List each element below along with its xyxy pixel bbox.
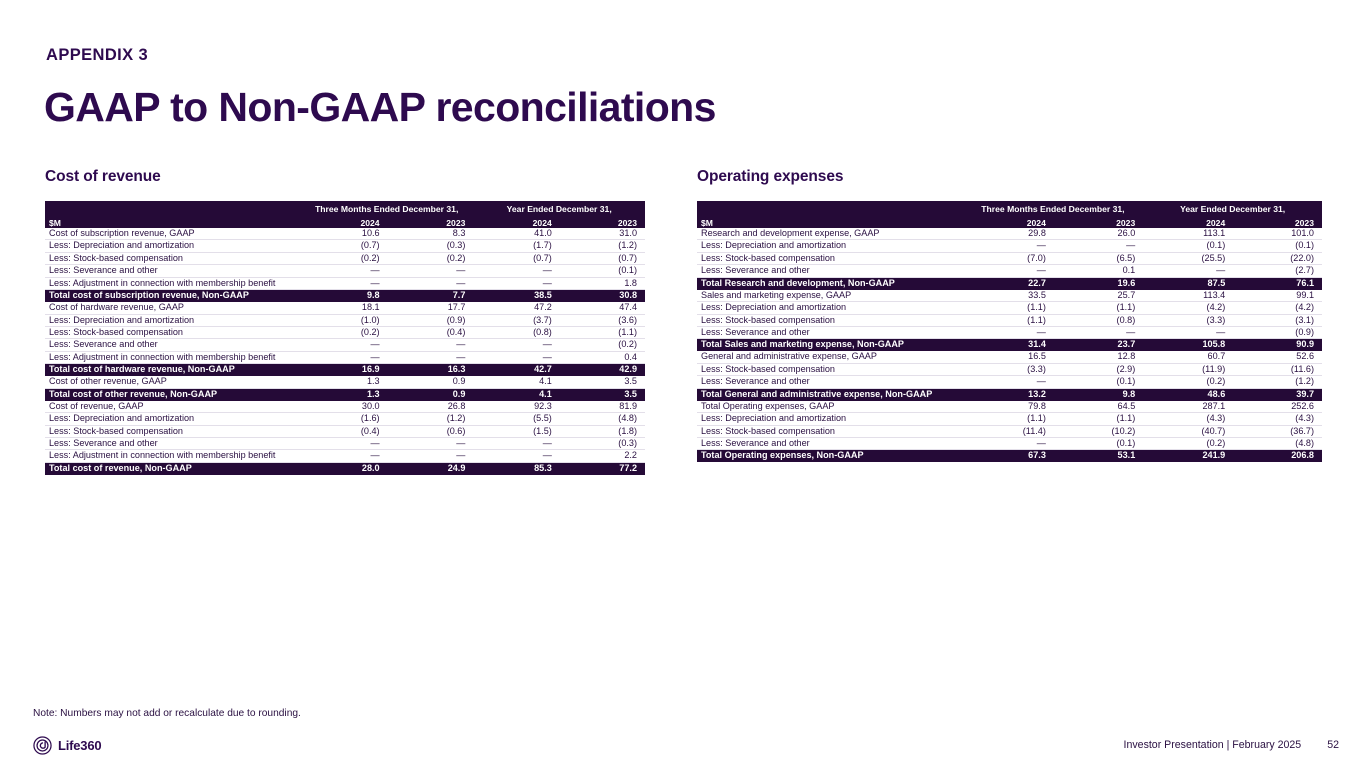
col-header-q4-2023: 2023	[1054, 214, 1143, 228]
row-value-4: (1.2)	[560, 240, 645, 252]
row-value-1: 10.6	[300, 228, 388, 240]
row-value-1: 18.1	[300, 302, 388, 314]
row-value-4: 42.9	[560, 364, 645, 377]
row-value-2: (0.9)	[388, 314, 474, 326]
row-value-4: 39.7	[1233, 388, 1322, 401]
row-label: Less: Severance and other	[45, 339, 300, 351]
table-row: Less: Adjustment in connection with memb…	[45, 450, 645, 462]
row-label: Cost of hardware revenue, GAAP	[45, 302, 300, 314]
table-group-header-row: Three Months Ended December 31, Year End…	[697, 201, 1322, 214]
presentation-label: Investor Presentation | February 2025	[1124, 739, 1302, 751]
row-value-3: (11.9)	[1143, 363, 1233, 375]
row-value-2: 0.9	[388, 376, 474, 388]
row-label: Research and development expense, GAAP	[697, 228, 963, 240]
row-value-2: (1.1)	[1054, 413, 1143, 425]
row-value-4: 99.1	[1233, 290, 1322, 302]
row-value-3: —	[473, 437, 559, 449]
section-heading-operating-expenses: Operating expenses	[697, 168, 1322, 186]
row-value-4: (0.1)	[560, 265, 645, 277]
row-value-1: (0.2)	[300, 252, 388, 264]
row-value-4: (4.3)	[1233, 413, 1322, 425]
table-row: Cost of other revenue, GAAP1.30.94.13.5	[45, 376, 645, 388]
table-row-total: Total cost of revenue, Non-GAAP28.024.98…	[45, 462, 645, 475]
table-body-operating-expenses: Research and development expense, GAAP29…	[697, 228, 1322, 462]
row-value-1: (1.1)	[963, 413, 1054, 425]
row-value-3: (0.1)	[1143, 240, 1233, 252]
row-value-3: 60.7	[1143, 351, 1233, 363]
row-value-4: (0.3)	[560, 437, 645, 449]
row-value-4: (1.2)	[1233, 376, 1322, 388]
table-cost-of-revenue: Three Months Ended December 31, Year End…	[45, 201, 645, 475]
row-value-1: (1.6)	[300, 413, 388, 425]
row-value-4: 3.5	[560, 388, 645, 401]
table-row: Less: Depreciation and amortization(1.1)…	[697, 413, 1322, 425]
row-value-2: (1.1)	[1054, 302, 1143, 314]
row-label: Less: Severance and other	[45, 265, 300, 277]
row-value-3: —	[1143, 326, 1233, 338]
row-label: Total cost of hardware revenue, Non-GAAP	[45, 364, 300, 377]
rounding-note: Note: Numbers may not add or recalculate…	[33, 708, 301, 719]
slide-root: APPENDIX 3 GAAP to Non-GAAP reconciliati…	[0, 0, 1365, 768]
row-value-3: 105.8	[1143, 339, 1233, 352]
row-value-3: 47.2	[473, 302, 559, 314]
row-value-2: —	[1054, 326, 1143, 338]
row-label: Total Operating expenses, GAAP	[697, 401, 963, 413]
page-title: GAAP to Non-GAAP reconciliations	[44, 84, 716, 131]
row-value-2: (2.9)	[1054, 363, 1143, 375]
row-value-1: —	[300, 437, 388, 449]
row-label: Less: Severance and other	[45, 437, 300, 449]
row-value-1: 22.7	[963, 277, 1054, 290]
row-value-2: 25.7	[1054, 290, 1143, 302]
row-value-4: 2.2	[560, 450, 645, 462]
row-label: Less: Depreciation and amortization	[45, 314, 300, 326]
row-label: Less: Depreciation and amortization	[697, 413, 963, 425]
row-value-1: 79.8	[963, 401, 1054, 413]
footer-meta: Investor Presentation | February 2025 52	[1124, 739, 1339, 751]
row-value-3: 4.1	[473, 376, 559, 388]
row-value-3: (1.5)	[473, 425, 559, 437]
row-value-3: —	[473, 277, 559, 289]
panel-operating-expenses: Operating expenses Three Months Ended De…	[697, 168, 1322, 462]
table-row: Cost of subscription revenue, GAAP10.68.…	[45, 228, 645, 240]
row-value-3: —	[473, 339, 559, 351]
row-value-3: (3.3)	[1143, 314, 1233, 326]
row-value-4: (1.8)	[560, 425, 645, 437]
appendix-eyebrow: APPENDIX 3	[46, 46, 148, 65]
row-value-2: (0.1)	[1054, 437, 1143, 449]
row-value-1: 9.8	[300, 290, 388, 303]
row-value-3: (0.7)	[473, 252, 559, 264]
row-value-1: 30.0	[300, 401, 388, 413]
row-value-3: —	[473, 450, 559, 462]
row-value-4: (1.1)	[560, 326, 645, 338]
group-header-year-ended: Year Ended December 31,	[1143, 201, 1322, 214]
row-value-3: 92.3	[473, 401, 559, 413]
row-value-3: 113.1	[1143, 228, 1233, 240]
row-label: Total Research and development, Non-GAAP	[697, 277, 963, 290]
table-row: Less: Depreciation and amortization——(0.…	[697, 240, 1322, 252]
table-row-total: Total Operating expenses, Non-GAAP67.353…	[697, 450, 1322, 463]
row-value-3: (0.2)	[1143, 376, 1233, 388]
table-row-total: Total cost of other revenue, Non-GAAP1.3…	[45, 388, 645, 401]
row-value-3: (25.5)	[1143, 252, 1233, 264]
unit-label: $M	[697, 214, 963, 228]
table-row: Less: Stock-based compensation(3.3)(2.9)…	[697, 363, 1322, 375]
table-row: Less: Adjustment in connection with memb…	[45, 277, 645, 289]
row-label: Less: Severance and other	[697, 437, 963, 449]
life360-target-icon-svg	[33, 736, 52, 755]
table-row-total: Total Sales and marketing expense, Non-G…	[697, 339, 1322, 352]
row-value-3: 241.9	[1143, 450, 1233, 463]
table-head: Three Months Ended December 31, Year End…	[45, 201, 645, 228]
row-value-2: (0.8)	[1054, 314, 1143, 326]
row-value-3: (40.7)	[1143, 425, 1233, 437]
row-label: Total Operating expenses, Non-GAAP	[697, 450, 963, 463]
row-value-2: (0.6)	[388, 425, 474, 437]
table-body-cost-of-revenue: Cost of subscription revenue, GAAP10.68.…	[45, 228, 645, 475]
row-value-4: (4.8)	[1233, 437, 1322, 449]
row-value-2: 17.7	[388, 302, 474, 314]
table-row: Less: Severance and other—0.1—(2.7)	[697, 265, 1322, 277]
table-row: Less: Severance and other———(0.9)	[697, 326, 1322, 338]
row-value-2: 0.9	[388, 388, 474, 401]
table-row: Less: Severance and other—(0.1)(0.2)(4.8…	[697, 437, 1322, 449]
row-value-1: 13.2	[963, 388, 1054, 401]
table-row: Less: Stock-based compensation(0.2)(0.2)…	[45, 252, 645, 264]
row-value-4: 76.1	[1233, 277, 1322, 290]
table-row: Less: Depreciation and amortization(1.6)…	[45, 413, 645, 425]
header-spacer	[45, 201, 300, 214]
row-value-4: (4.8)	[560, 413, 645, 425]
row-label: Total cost of subscription revenue, Non-…	[45, 290, 300, 303]
row-value-2: 23.7	[1054, 339, 1143, 352]
row-value-3: 38.5	[473, 290, 559, 303]
row-label: Less: Stock-based compensation	[697, 363, 963, 375]
table-row: Less: Severance and other—(0.1)(0.2)(1.2…	[697, 376, 1322, 388]
table-row: Less: Stock-based compensation(0.2)(0.4)…	[45, 326, 645, 338]
row-value-4: 52.6	[1233, 351, 1322, 363]
row-value-1: 1.3	[300, 388, 388, 401]
row-value-3: (4.2)	[1143, 302, 1233, 314]
row-label: Cost of subscription revenue, GAAP	[45, 228, 300, 240]
row-label: Cost of revenue, GAAP	[45, 401, 300, 413]
table-row: Less: Stock-based compensation(0.4)(0.6)…	[45, 425, 645, 437]
table-column-header-row: $M 2024 2023 2024 2023	[697, 214, 1322, 228]
table-row: Research and development expense, GAAP29…	[697, 228, 1322, 240]
row-value-3: —	[473, 265, 559, 277]
row-value-2: 16.3	[388, 364, 474, 377]
unit-label: $M	[45, 214, 300, 228]
row-value-1: 16.5	[963, 351, 1054, 363]
row-value-1: —	[300, 265, 388, 277]
table-row: Sales and marketing expense, GAAP33.525.…	[697, 290, 1322, 302]
row-value-2: —	[388, 450, 474, 462]
row-value-1: (7.0)	[963, 252, 1054, 264]
table-row: Cost of revenue, GAAP30.026.892.381.9	[45, 401, 645, 413]
row-value-2: (0.3)	[388, 240, 474, 252]
row-label: Less: Depreciation and amortization	[697, 302, 963, 314]
group-header-year-ended: Year Ended December 31,	[473, 201, 645, 214]
table-row: Less: Depreciation and amortization(1.0)…	[45, 314, 645, 326]
logo-wordmark: Life360	[58, 738, 101, 753]
row-label: Less: Severance and other	[697, 376, 963, 388]
row-value-4: 252.6	[1233, 401, 1322, 413]
row-label: Less: Adjustment in connection with memb…	[45, 277, 300, 289]
row-value-3: 113.4	[1143, 290, 1233, 302]
row-value-1: 16.9	[300, 364, 388, 377]
brand-logo: Life360	[33, 736, 101, 755]
life360-target-icon	[33, 736, 52, 755]
row-label: Sales and marketing expense, GAAP	[697, 290, 963, 302]
row-value-3: 87.5	[1143, 277, 1233, 290]
table-head: Three Months Ended December 31, Year End…	[697, 201, 1322, 228]
row-value-4: (11.6)	[1233, 363, 1322, 375]
row-value-4: 3.5	[560, 376, 645, 388]
table-row-total: Total cost of hardware revenue, Non-GAAP…	[45, 364, 645, 377]
row-value-2: (1.2)	[388, 413, 474, 425]
row-value-1: 29.8	[963, 228, 1054, 240]
row-label: Less: Stock-based compensation	[697, 252, 963, 264]
row-value-4: 77.2	[560, 462, 645, 475]
row-value-1: —	[963, 326, 1054, 338]
row-value-3: (1.7)	[473, 240, 559, 252]
table-row: Less: Depreciation and amortization(1.1)…	[697, 302, 1322, 314]
row-value-1: 33.5	[963, 290, 1054, 302]
row-value-2: (0.2)	[388, 252, 474, 264]
row-value-1: (0.7)	[300, 240, 388, 252]
row-value-2: —	[388, 351, 474, 363]
row-value-1: (0.4)	[300, 425, 388, 437]
row-label: Less: Depreciation and amortization	[45, 413, 300, 425]
row-value-4: 30.8	[560, 290, 645, 303]
row-value-4: (0.2)	[560, 339, 645, 351]
row-value-4: (2.7)	[1233, 265, 1322, 277]
table-row: Less: Stock-based compensation(1.1)(0.8)…	[697, 314, 1322, 326]
table-row: Less: Stock-based compensation(11.4)(10.…	[697, 425, 1322, 437]
row-value-1: —	[963, 376, 1054, 388]
row-label: Less: Stock-based compensation	[45, 326, 300, 338]
row-value-2: 53.1	[1054, 450, 1143, 463]
table-column-header-row: $M 2024 2023 2024 2023	[45, 214, 645, 228]
row-label: Less: Adjustment in connection with memb…	[45, 450, 300, 462]
row-label: Less: Adjustment in connection with memb…	[45, 351, 300, 363]
row-label: Total cost of revenue, Non-GAAP	[45, 462, 300, 475]
row-value-4: (0.1)	[1233, 240, 1322, 252]
row-value-4: 0.4	[560, 351, 645, 363]
row-value-1: (1.1)	[963, 314, 1054, 326]
row-value-1: —	[963, 265, 1054, 277]
row-value-2: (0.4)	[388, 326, 474, 338]
row-value-2: —	[388, 265, 474, 277]
table-row-total: Total Research and development, Non-GAAP…	[697, 277, 1322, 290]
row-value-1: (11.4)	[963, 425, 1054, 437]
col-header-fy-2023: 2023	[1233, 214, 1322, 228]
row-value-2: (0.1)	[1054, 376, 1143, 388]
row-value-2: (10.2)	[1054, 425, 1143, 437]
table-row-total: Total cost of subscription revenue, Non-…	[45, 290, 645, 303]
row-value-2: 8.3	[388, 228, 474, 240]
row-value-3: 48.6	[1143, 388, 1233, 401]
row-label: Less: Depreciation and amortization	[45, 240, 300, 252]
row-value-2: 24.9	[388, 462, 474, 475]
row-value-1: 1.3	[300, 376, 388, 388]
row-value-4: (3.6)	[560, 314, 645, 326]
table-row: Less: Stock-based compensation(7.0)(6.5)…	[697, 252, 1322, 264]
row-label: Total cost of other revenue, Non-GAAP	[45, 388, 300, 401]
col-header-q4-2023: 2023	[388, 214, 474, 228]
table-row: Less: Depreciation and amortization(0.7)…	[45, 240, 645, 252]
row-value-4: (3.1)	[1233, 314, 1322, 326]
row-value-1: —	[963, 240, 1054, 252]
col-header-q4-2024: 2024	[963, 214, 1054, 228]
row-value-2: (6.5)	[1054, 252, 1143, 264]
row-value-1: 31.4	[963, 339, 1054, 352]
row-value-2: 12.8	[1054, 351, 1143, 363]
row-value-2: 0.1	[1054, 265, 1143, 277]
col-header-q4-2024: 2024	[300, 214, 388, 228]
row-value-2: —	[388, 277, 474, 289]
table-row-total: Total General and administrative expense…	[697, 388, 1322, 401]
row-value-4: (22.0)	[1233, 252, 1322, 264]
table-row: Less: Severance and other———(0.3)	[45, 437, 645, 449]
row-value-1: —	[963, 437, 1054, 449]
table-operating-expenses: Three Months Ended December 31, Year End…	[697, 201, 1322, 462]
col-header-fy-2024: 2024	[473, 214, 559, 228]
row-label: Less: Stock-based compensation	[697, 314, 963, 326]
section-heading-cost-of-revenue: Cost of revenue	[45, 168, 645, 186]
row-value-3: (0.8)	[473, 326, 559, 338]
table-row: General and administrative expense, GAAP…	[697, 351, 1322, 363]
row-value-1: —	[300, 339, 388, 351]
row-value-2: —	[388, 339, 474, 351]
row-value-3: (0.2)	[1143, 437, 1233, 449]
row-value-2: 7.7	[388, 290, 474, 303]
row-value-4: (0.7)	[560, 252, 645, 264]
row-value-2: 64.5	[1054, 401, 1143, 413]
header-spacer	[697, 201, 963, 214]
row-value-3: (4.3)	[1143, 413, 1233, 425]
row-value-4: 101.0	[1233, 228, 1322, 240]
table-row: Less: Severance and other———(0.1)	[45, 265, 645, 277]
row-value-3: —	[473, 351, 559, 363]
row-label: Total Sales and marketing expense, Non-G…	[697, 339, 963, 352]
row-label: Less: Stock-based compensation	[45, 252, 300, 264]
row-value-4: 81.9	[560, 401, 645, 413]
row-label: Less: Stock-based compensation	[697, 425, 963, 437]
row-value-2: 19.6	[1054, 277, 1143, 290]
row-value-4: (4.2)	[1233, 302, 1322, 314]
row-value-2: —	[388, 437, 474, 449]
row-value-2: 26.0	[1054, 228, 1143, 240]
row-value-3: —	[1143, 265, 1233, 277]
row-label: General and administrative expense, GAAP	[697, 351, 963, 363]
row-label: Cost of other revenue, GAAP	[45, 376, 300, 388]
col-header-fy-2023: 2023	[560, 214, 645, 228]
row-label: Less: Stock-based compensation	[45, 425, 300, 437]
table-row: Total Operating expenses, GAAP79.864.528…	[697, 401, 1322, 413]
row-label: Total General and administrative expense…	[697, 388, 963, 401]
group-header-three-months: Three Months Ended December 31,	[300, 201, 473, 214]
row-value-3: 287.1	[1143, 401, 1233, 413]
row-value-1: —	[300, 277, 388, 289]
row-value-3: (5.5)	[473, 413, 559, 425]
row-label: Less: Severance and other	[697, 326, 963, 338]
col-header-fy-2024: 2024	[1143, 214, 1233, 228]
row-value-1: (0.2)	[300, 326, 388, 338]
page-number: 52	[1327, 739, 1339, 751]
row-value-4: (0.9)	[1233, 326, 1322, 338]
row-value-2: 9.8	[1054, 388, 1143, 401]
row-value-3: 85.3	[473, 462, 559, 475]
row-value-4: (36.7)	[1233, 425, 1322, 437]
row-value-1: 28.0	[300, 462, 388, 475]
table-row: Less: Adjustment in connection with memb…	[45, 351, 645, 363]
row-value-3: 4.1	[473, 388, 559, 401]
row-value-1: (1.1)	[963, 302, 1054, 314]
row-value-4: 1.8	[560, 277, 645, 289]
row-value-1: (3.3)	[963, 363, 1054, 375]
panel-cost-of-revenue: Cost of revenue Three Months Ended Decem…	[45, 168, 645, 475]
row-value-3: 42.7	[473, 364, 559, 377]
row-value-4: 206.8	[1233, 450, 1322, 463]
row-value-1: —	[300, 351, 388, 363]
table-group-header-row: Three Months Ended December 31, Year End…	[45, 201, 645, 214]
row-label: Less: Severance and other	[697, 265, 963, 277]
row-value-2: 26.8	[388, 401, 474, 413]
row-value-4: 31.0	[560, 228, 645, 240]
table-row: Cost of hardware revenue, GAAP18.117.747…	[45, 302, 645, 314]
row-value-2: —	[1054, 240, 1143, 252]
row-label: Less: Depreciation and amortization	[697, 240, 963, 252]
group-header-three-months: Three Months Ended December 31,	[963, 201, 1144, 214]
row-value-1: (1.0)	[300, 314, 388, 326]
row-value-1: —	[300, 450, 388, 462]
row-value-4: 90.9	[1233, 339, 1322, 352]
row-value-4: 47.4	[560, 302, 645, 314]
row-value-1: 67.3	[963, 450, 1054, 463]
row-value-3: 41.0	[473, 228, 559, 240]
table-row: Less: Severance and other———(0.2)	[45, 339, 645, 351]
row-value-3: (3.7)	[473, 314, 559, 326]
